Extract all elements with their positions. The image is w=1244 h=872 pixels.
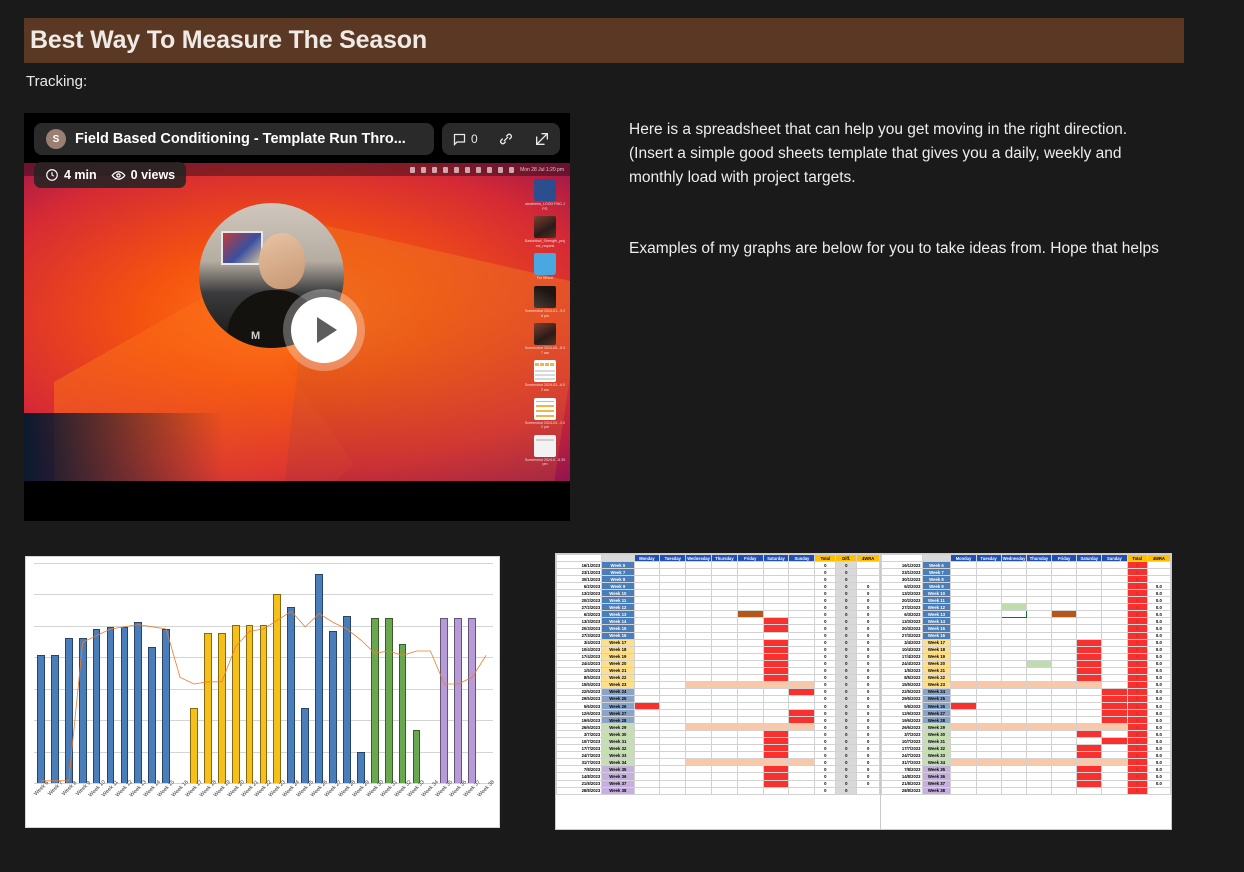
day-cell[interactable] — [686, 590, 712, 597]
day-cell[interactable] — [1026, 660, 1051, 667]
day-cell[interactable] — [951, 625, 976, 632]
table-row[interactable]: 20/3/2023Week 1500.0 — [882, 625, 1171, 632]
day-cell[interactable] — [712, 583, 738, 590]
day-cell[interactable] — [737, 724, 763, 731]
day-cell[interactable] — [1102, 780, 1127, 787]
day-cell[interactable] — [737, 759, 763, 766]
table-row[interactable]: 17/4/2023Week 19000 — [557, 653, 880, 660]
day-cell[interactable] — [1052, 738, 1077, 745]
day-cell[interactable] — [789, 653, 815, 660]
day-cell[interactable] — [1052, 710, 1077, 717]
day-cell[interactable] — [1077, 773, 1102, 780]
day-cell[interactable] — [1026, 695, 1051, 702]
day-cell[interactable] — [737, 660, 763, 667]
day-cell[interactable] — [686, 752, 712, 759]
day-cell[interactable] — [1077, 681, 1102, 688]
day-cell[interactable] — [686, 766, 712, 773]
day-cell[interactable] — [976, 674, 1001, 681]
day-cell[interactable] — [789, 702, 815, 709]
day-cell[interactable] — [976, 576, 1001, 583]
day-cell[interactable] — [686, 787, 712, 794]
day-cell[interactable] — [737, 611, 763, 618]
day-cell[interactable] — [1052, 745, 1077, 752]
day-cell[interactable] — [1077, 632, 1102, 639]
day-cell[interactable] — [660, 780, 686, 787]
day-cell[interactable] — [737, 632, 763, 639]
day-cell[interactable] — [789, 562, 815, 569]
day-cell[interactable] — [951, 639, 976, 646]
day-cell[interactable] — [660, 695, 686, 702]
day-cell[interactable] — [1026, 639, 1051, 646]
day-cell[interactable] — [686, 611, 712, 618]
day-cell[interactable] — [789, 674, 815, 681]
day-cell[interactable] — [951, 604, 976, 611]
day-cell[interactable] — [976, 639, 1001, 646]
day-cell[interactable] — [660, 667, 686, 674]
day-cell[interactable] — [976, 611, 1001, 618]
day-cell[interactable] — [634, 569, 660, 576]
day-cell[interactable] — [712, 660, 738, 667]
copy-link-button[interactable] — [498, 131, 514, 147]
day-cell[interactable] — [976, 653, 1001, 660]
day-cell[interactable] — [1077, 590, 1102, 597]
day-cell[interactable] — [763, 632, 789, 639]
day-cell[interactable] — [1102, 562, 1127, 569]
day-cell[interactable] — [763, 590, 789, 597]
day-cell[interactable] — [737, 745, 763, 752]
day-cell[interactable] — [976, 717, 1001, 724]
day-cell[interactable] — [1102, 576, 1127, 583]
day-cell[interactable] — [1052, 717, 1077, 724]
day-cell[interactable] — [976, 738, 1001, 745]
day-cell[interactable] — [1026, 576, 1051, 583]
day-cell[interactable] — [660, 625, 686, 632]
day-cell[interactable] — [1077, 583, 1102, 590]
day-cell[interactable] — [712, 562, 738, 569]
day-cell[interactable] — [634, 653, 660, 660]
day-cell[interactable] — [789, 618, 815, 625]
table-row[interactable]: 23/1/2023Week 70 — [882, 569, 1171, 576]
day-cell[interactable] — [1102, 717, 1127, 724]
day-cell[interactable] — [976, 766, 1001, 773]
table-row[interactable]: 24/7/2023Week 33000 — [557, 752, 880, 759]
day-cell[interactable] — [763, 724, 789, 731]
table-row[interactable]: 6/3/2023Week 13000 — [557, 611, 880, 618]
table-row[interactable]: 27/3/2023Week 16000 — [557, 632, 880, 639]
day-cell[interactable] — [712, 710, 738, 717]
day-cell[interactable] — [1001, 702, 1026, 709]
day-cell[interactable] — [1102, 653, 1127, 660]
day-cell[interactable] — [1077, 717, 1102, 724]
day-cell[interactable] — [712, 759, 738, 766]
day-cell[interactable] — [737, 752, 763, 759]
day-cell[interactable] — [1077, 660, 1102, 667]
day-cell[interactable] — [1001, 569, 1026, 576]
day-cell[interactable] — [1052, 625, 1077, 632]
day-cell[interactable] — [686, 681, 712, 688]
day-cell[interactable] — [951, 702, 976, 709]
day-cell[interactable] — [1102, 660, 1127, 667]
day-cell[interactable] — [1102, 639, 1127, 646]
day-cell[interactable] — [763, 773, 789, 780]
day-cell[interactable] — [660, 604, 686, 611]
day-cell[interactable] — [1077, 611, 1102, 618]
table-row[interactable]: 21/8/2023Week 37000 — [557, 780, 880, 787]
day-cell[interactable] — [763, 766, 789, 773]
table-row[interactable]: 20/3/2023Week 15000 — [557, 625, 880, 632]
day-cell[interactable] — [737, 738, 763, 745]
table-row[interactable]: 6/3/2023Week 1300.0 — [882, 611, 1171, 618]
day-cell[interactable] — [1026, 787, 1051, 794]
day-cell[interactable] — [951, 632, 976, 639]
day-cell[interactable] — [1102, 766, 1127, 773]
day-cell[interactable] — [1001, 576, 1026, 583]
day-cell[interactable] — [634, 646, 660, 653]
day-cell[interactable] — [1001, 646, 1026, 653]
day-cell[interactable] — [1001, 639, 1026, 646]
day-cell[interactable] — [763, 660, 789, 667]
day-cell[interactable] — [686, 660, 712, 667]
day-cell[interactable] — [712, 576, 738, 583]
day-cell[interactable] — [634, 688, 660, 695]
day-cell[interactable] — [976, 583, 1001, 590]
day-cell[interactable] — [789, 745, 815, 752]
day-cell[interactable] — [1077, 569, 1102, 576]
day-cell[interactable] — [660, 745, 686, 752]
day-cell[interactable] — [1026, 674, 1051, 681]
table-row[interactable]: 24/4/2023Week 20000 — [557, 660, 880, 667]
day-cell[interactable] — [976, 562, 1001, 569]
day-cell[interactable] — [789, 646, 815, 653]
comment-button[interactable]: 0 — [452, 132, 478, 147]
day-cell[interactable] — [634, 710, 660, 717]
day-cell[interactable] — [686, 562, 712, 569]
day-cell[interactable] — [789, 590, 815, 597]
day-cell[interactable] — [976, 724, 1001, 731]
day-cell[interactable] — [686, 653, 712, 660]
day-cell[interactable] — [634, 752, 660, 759]
day-cell[interactable] — [1102, 597, 1127, 604]
day-cell[interactable] — [789, 569, 815, 576]
day-cell[interactable] — [712, 569, 738, 576]
day-cell[interactable] — [763, 667, 789, 674]
table-row[interactable]: 7/8/2023Week 3500.0 — [882, 766, 1171, 773]
day-cell[interactable] — [686, 759, 712, 766]
open-external-button[interactable] — [534, 131, 550, 147]
day-cell[interactable] — [634, 667, 660, 674]
day-cell[interactable] — [737, 787, 763, 794]
day-cell[interactable] — [686, 695, 712, 702]
day-cell[interactable] — [1052, 653, 1077, 660]
day-cell[interactable] — [1077, 724, 1102, 731]
day-cell[interactable] — [1026, 681, 1051, 688]
table-row[interactable]: 17/7/2023Week 32000 — [557, 745, 880, 752]
table-row[interactable]: 13/3/2023Week 1400.0 — [882, 618, 1171, 625]
day-cell[interactable] — [976, 667, 1001, 674]
day-cell[interactable] — [737, 780, 763, 787]
day-cell[interactable] — [1026, 562, 1051, 569]
day-cell[interactable] — [976, 773, 1001, 780]
day-cell[interactable] — [789, 710, 815, 717]
day-cell[interactable] — [951, 597, 976, 604]
day-cell[interactable] — [1001, 759, 1026, 766]
day-cell[interactable] — [634, 625, 660, 632]
day-cell[interactable] — [1052, 618, 1077, 625]
day-cell[interactable] — [686, 639, 712, 646]
day-cell[interactable] — [737, 766, 763, 773]
day-cell[interactable] — [1102, 569, 1127, 576]
day-cell[interactable] — [1052, 597, 1077, 604]
day-cell[interactable] — [789, 773, 815, 780]
table-row[interactable]: 27/3/2023Week 1600.0 — [882, 632, 1171, 639]
day-cell[interactable] — [951, 646, 976, 653]
day-cell[interactable] — [1102, 646, 1127, 653]
day-cell[interactable] — [1077, 597, 1102, 604]
day-cell[interactable] — [789, 766, 815, 773]
day-cell[interactable] — [712, 780, 738, 787]
day-cell[interactable] — [1026, 759, 1051, 766]
day-cell[interactable] — [1001, 674, 1026, 681]
day-cell[interactable] — [1052, 639, 1077, 646]
day-cell[interactable] — [976, 632, 1001, 639]
day-cell[interactable] — [712, 681, 738, 688]
day-cell[interactable] — [1001, 604, 1026, 611]
day-cell[interactable] — [763, 674, 789, 681]
day-cell[interactable] — [1026, 702, 1051, 709]
day-cell[interactable] — [634, 618, 660, 625]
day-cell[interactable] — [634, 745, 660, 752]
day-cell[interactable] — [1102, 773, 1127, 780]
day-cell[interactable] — [789, 576, 815, 583]
day-cell[interactable] — [1052, 752, 1077, 759]
day-cell[interactable] — [737, 583, 763, 590]
day-cell[interactable] — [789, 660, 815, 667]
day-cell[interactable] — [712, 724, 738, 731]
day-cell[interactable] — [976, 681, 1001, 688]
day-cell[interactable] — [712, 611, 738, 618]
day-cell[interactable] — [1102, 688, 1127, 695]
day-cell[interactable] — [712, 639, 738, 646]
day-cell[interactable] — [789, 639, 815, 646]
day-cell[interactable] — [1102, 695, 1127, 702]
day-cell[interactable] — [634, 590, 660, 597]
day-cell[interactable] — [976, 702, 1001, 709]
day-cell[interactable] — [634, 597, 660, 604]
day-cell[interactable] — [1052, 632, 1077, 639]
day-cell[interactable] — [951, 780, 976, 787]
day-cell[interactable] — [660, 646, 686, 653]
day-cell[interactable] — [1052, 759, 1077, 766]
day-cell[interactable] — [634, 681, 660, 688]
day-cell[interactable] — [1001, 611, 1026, 618]
day-cell[interactable] — [1102, 674, 1127, 681]
day-cell[interactable] — [1001, 717, 1026, 724]
table-row[interactable]: 13/3/2023Week 14000 — [557, 618, 880, 625]
day-cell[interactable] — [763, 639, 789, 646]
table-row[interactable]: 21/8/2023Week 3700.0 — [882, 780, 1171, 787]
day-cell[interactable] — [789, 632, 815, 639]
day-cell[interactable] — [634, 562, 660, 569]
day-cell[interactable] — [951, 710, 976, 717]
day-cell[interactable] — [1077, 604, 1102, 611]
day-cell[interactable] — [976, 604, 1001, 611]
day-cell[interactable] — [789, 681, 815, 688]
day-cell[interactable] — [737, 667, 763, 674]
day-cell[interactable] — [712, 604, 738, 611]
day-cell[interactable] — [1001, 583, 1026, 590]
day-cell[interactable] — [737, 562, 763, 569]
day-cell[interactable] — [1001, 745, 1026, 752]
day-cell[interactable] — [686, 702, 712, 709]
day-cell[interactable] — [1052, 674, 1077, 681]
day-cell[interactable] — [712, 766, 738, 773]
day-cell[interactable] — [1052, 562, 1077, 569]
table-row[interactable]: 24/4/2023Week 2000.0 — [882, 660, 1171, 667]
day-cell[interactable] — [1102, 667, 1127, 674]
day-cell[interactable] — [686, 717, 712, 724]
day-cell[interactable] — [951, 717, 976, 724]
day-cell[interactable] — [1026, 731, 1051, 738]
day-cell[interactable] — [1001, 780, 1026, 787]
table-row[interactable]: 20/2/2023Week 11000 — [557, 597, 880, 604]
day-cell[interactable] — [976, 646, 1001, 653]
table-row[interactable]: 17/4/2023Week 1900.0 — [882, 653, 1171, 660]
day-cell[interactable] — [686, 710, 712, 717]
day-cell[interactable] — [1026, 766, 1051, 773]
table-row[interactable]: 24/7/2023Week 3300.0 — [882, 752, 1171, 759]
day-cell[interactable] — [660, 787, 686, 794]
day-cell[interactable] — [951, 569, 976, 576]
day-cell[interactable] — [686, 646, 712, 653]
day-cell[interactable] — [634, 674, 660, 681]
day-cell[interactable] — [1052, 787, 1077, 794]
day-cell[interactable] — [634, 611, 660, 618]
day-cell[interactable] — [686, 738, 712, 745]
day-cell[interactable] — [1001, 632, 1026, 639]
day-cell[interactable] — [976, 752, 1001, 759]
table-row[interactable]: 27/2/2023Week 12000 — [557, 604, 880, 611]
day-cell[interactable] — [660, 653, 686, 660]
day-cell[interactable] — [763, 752, 789, 759]
day-cell[interactable] — [1052, 590, 1077, 597]
day-cell[interactable] — [634, 787, 660, 794]
play-button[interactable] — [291, 297, 357, 363]
table-row[interactable]: 26/6/2023Week 2900.0 — [882, 724, 1171, 731]
day-cell[interactable] — [1026, 611, 1051, 618]
day-cell[interactable] — [789, 738, 815, 745]
day-cell[interactable] — [1102, 604, 1127, 611]
day-cell[interactable] — [712, 717, 738, 724]
day-cell[interactable] — [634, 780, 660, 787]
day-cell[interactable] — [712, 787, 738, 794]
day-cell[interactable] — [1052, 583, 1077, 590]
day-cell[interactable] — [1077, 695, 1102, 702]
day-cell[interactable] — [634, 759, 660, 766]
day-cell[interactable] — [634, 738, 660, 745]
day-cell[interactable] — [660, 681, 686, 688]
day-cell[interactable] — [763, 625, 789, 632]
day-cell[interactable] — [1026, 653, 1051, 660]
day-cell[interactable] — [737, 688, 763, 695]
day-cell[interactable] — [976, 745, 1001, 752]
table-row[interactable]: 6/2/2023Week 900.0 — [882, 583, 1171, 590]
day-cell[interactable] — [1026, 667, 1051, 674]
day-cell[interactable] — [660, 738, 686, 745]
day-cell[interactable] — [1102, 731, 1127, 738]
day-cell[interactable] — [737, 604, 763, 611]
day-cell[interactable] — [1052, 681, 1077, 688]
day-cell[interactable] — [1102, 611, 1127, 618]
day-cell[interactable] — [1001, 618, 1026, 625]
day-cell[interactable] — [763, 653, 789, 660]
day-cell[interactable] — [634, 695, 660, 702]
table-row[interactable]: 30/1/2023Week 80 — [882, 576, 1171, 583]
day-cell[interactable] — [1026, 752, 1051, 759]
day-cell[interactable] — [1077, 752, 1102, 759]
day-cell[interactable] — [1077, 731, 1102, 738]
day-cell[interactable] — [951, 562, 976, 569]
table-row[interactable]: 6/2/2023Week 9000 — [557, 583, 880, 590]
day-cell[interactable] — [712, 625, 738, 632]
day-cell[interactable] — [660, 576, 686, 583]
table-row[interactable]: 12/6/2023Week 2700.0 — [882, 710, 1171, 717]
day-cell[interactable] — [976, 787, 1001, 794]
table-row[interactable]: 3/4/2023Week 17000 — [557, 639, 880, 646]
day-cell[interactable] — [660, 583, 686, 590]
table-row[interactable]: 1/5/2023Week 21000 — [557, 667, 880, 674]
table-row[interactable]: 22/5/2023Week 24000 — [557, 688, 880, 695]
day-cell[interactable] — [686, 773, 712, 780]
day-cell[interactable] — [712, 702, 738, 709]
day-cell[interactable] — [1077, 745, 1102, 752]
day-cell[interactable] — [712, 695, 738, 702]
day-cell[interactable] — [1102, 710, 1127, 717]
table-row[interactable]: 28/8/2023Week 380 — [882, 787, 1171, 794]
day-cell[interactable] — [763, 702, 789, 709]
day-cell[interactable] — [763, 717, 789, 724]
day-cell[interactable] — [660, 752, 686, 759]
table-row[interactable]: 15/5/2023Week 2300.0 — [882, 681, 1171, 688]
day-cell[interactable] — [1001, 625, 1026, 632]
table-row[interactable]: 16/1/2023Week 600 — [557, 562, 880, 569]
day-cell[interactable] — [686, 569, 712, 576]
table-row[interactable]: 1/5/2023Week 2100.0 — [882, 667, 1171, 674]
day-cell[interactable] — [686, 780, 712, 787]
table-row[interactable]: 14/8/2023Week 3600.0 — [882, 773, 1171, 780]
day-cell[interactable] — [789, 583, 815, 590]
day-cell[interactable] — [1052, 695, 1077, 702]
day-cell[interactable] — [951, 590, 976, 597]
table-row[interactable]: 8/5/2023Week 2200.0 — [882, 674, 1171, 681]
day-cell[interactable] — [737, 710, 763, 717]
day-cell[interactable] — [712, 590, 738, 597]
day-cell[interactable] — [634, 632, 660, 639]
day-cell[interactable] — [712, 667, 738, 674]
day-cell[interactable] — [1026, 604, 1051, 611]
day-cell[interactable] — [1102, 702, 1127, 709]
day-cell[interactable] — [1001, 787, 1026, 794]
table-row[interactable]: 17/7/2023Week 3200.0 — [882, 745, 1171, 752]
day-cell[interactable] — [660, 724, 686, 731]
weekly-load-sheet[interactable]: MondayTuesdayWednesdayThursdayFridaySatu… — [555, 553, 881, 830]
day-cell[interactable] — [951, 724, 976, 731]
day-cell[interactable] — [1026, 618, 1051, 625]
day-cell[interactable] — [737, 674, 763, 681]
table-row[interactable]: 16/1/2023Week 60 — [882, 562, 1171, 569]
day-cell[interactable] — [1001, 766, 1026, 773]
day-cell[interactable] — [737, 773, 763, 780]
day-cell[interactable] — [1001, 695, 1026, 702]
